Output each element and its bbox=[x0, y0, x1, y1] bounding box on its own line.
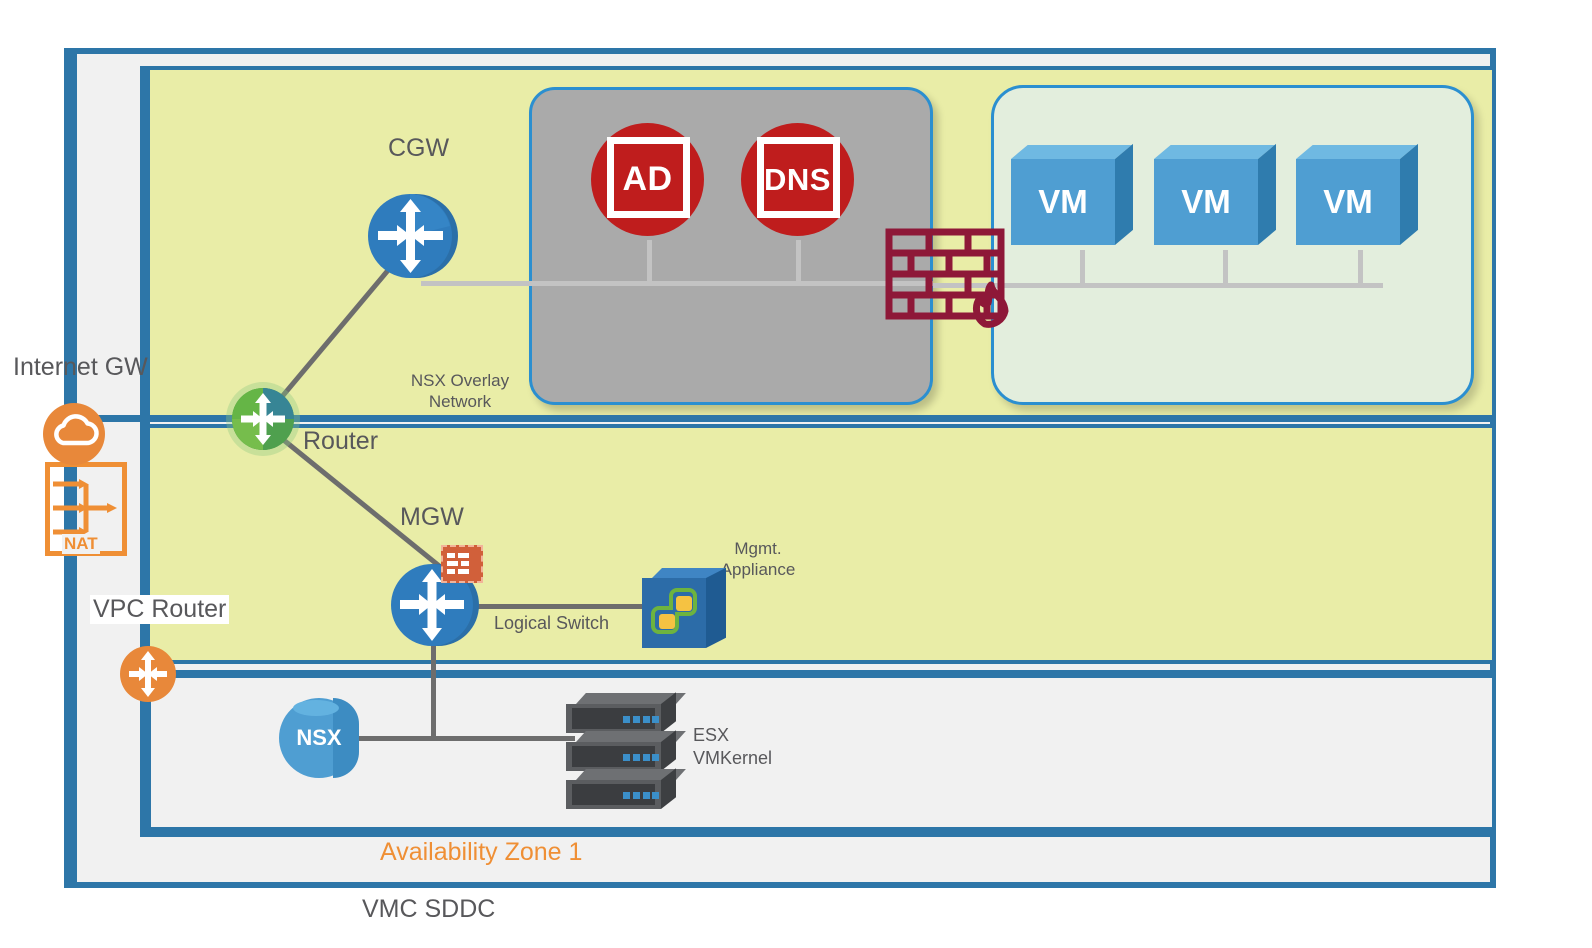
router-east-line bbox=[262, 415, 1496, 422]
nsx-to-esx-line bbox=[357, 736, 575, 741]
server-led bbox=[643, 792, 650, 799]
server-led bbox=[652, 792, 659, 799]
vm-label-2: VM bbox=[1154, 159, 1258, 245]
vm-cube-top bbox=[1154, 145, 1275, 159]
internet-gw-label: Internet GW bbox=[13, 353, 148, 382]
dns-drop-line bbox=[796, 240, 801, 283]
cgw-router-icon[interactable] bbox=[366, 190, 458, 282]
mgw-to-switch-line bbox=[455, 604, 651, 609]
firewall-icon[interactable] bbox=[885, 228, 1015, 328]
router-icon[interactable] bbox=[232, 388, 294, 450]
server-led bbox=[643, 716, 650, 723]
vm-cube-top bbox=[1011, 145, 1132, 159]
esx-server-2[interactable] bbox=[566, 731, 676, 771]
server-led bbox=[643, 754, 650, 761]
appliance-glyph-icon bbox=[648, 584, 702, 642]
server-led bbox=[623, 716, 630, 723]
logical-switch-label: Logical Switch bbox=[494, 612, 609, 635]
vpc-router-down-line bbox=[144, 700, 151, 834]
ad-label: AD bbox=[591, 123, 704, 236]
vm-node-3[interactable]: VM bbox=[1296, 145, 1418, 245]
dns-label: DNS bbox=[741, 123, 854, 236]
nsx-label: NSX bbox=[279, 698, 359, 778]
server-led bbox=[623, 792, 630, 799]
nat-label: NAT bbox=[62, 534, 100, 554]
vm-node-1[interactable]: VM bbox=[1011, 145, 1133, 245]
vpc-router-label: VPC Router bbox=[90, 595, 229, 624]
esx-server-3[interactable] bbox=[566, 769, 676, 809]
vm-drop-line-2 bbox=[1223, 250, 1228, 285]
overlay-bus-line bbox=[421, 281, 933, 286]
server-led bbox=[633, 754, 640, 761]
server-led bbox=[633, 792, 640, 799]
nsx-overlay-box bbox=[529, 87, 933, 405]
esx-label-line2: VMKernel bbox=[693, 747, 803, 770]
vm-segment-box bbox=[991, 85, 1474, 405]
cgw-label: CGW bbox=[388, 134, 449, 163]
availability-zone-label: Availability Zone 1 bbox=[380, 838, 582, 867]
mgw-firewall-badge-icon bbox=[441, 545, 483, 583]
server-led bbox=[633, 716, 640, 723]
vpc-router-bottom-line bbox=[144, 827, 1496, 834]
ad-node[interactable]: AD bbox=[591, 123, 704, 236]
nsx-overlay-label-line1: NSX Overlay bbox=[405, 370, 515, 391]
vm-cube-top bbox=[1296, 145, 1417, 159]
mgmt-appliance-icon[interactable] bbox=[642, 568, 726, 648]
server-led bbox=[623, 754, 630, 761]
cloud-icon bbox=[43, 403, 105, 465]
mgw-down-line bbox=[431, 636, 436, 738]
mgmt-appliance-line1: Mgmt. bbox=[703, 538, 813, 559]
vmc-sddc-label: VMC SDDC bbox=[362, 895, 495, 924]
ad-drop-line bbox=[647, 240, 652, 283]
nsx-node[interactable]: NSX bbox=[279, 698, 359, 778]
esx-vmkernel-label: ESX VMKernel bbox=[693, 724, 803, 769]
diagram-canvas: Internet GW NAT VPC Router bbox=[0, 0, 1592, 948]
nsx-overlay-label-line2: Network bbox=[405, 391, 515, 412]
dns-node[interactable]: DNS bbox=[741, 123, 854, 236]
server-led bbox=[652, 754, 659, 761]
appliance-side bbox=[706, 568, 726, 648]
vm-cube-side bbox=[1115, 144, 1133, 245]
vm-drop-line-3 bbox=[1358, 250, 1363, 285]
vm-cube-side bbox=[1400, 144, 1418, 245]
router-label: Router bbox=[303, 427, 378, 456]
mgw-label: MGW bbox=[400, 503, 464, 532]
vm-label-1: VM bbox=[1011, 159, 1115, 245]
vm-label-3: VM bbox=[1296, 159, 1400, 245]
vpc-router-icon[interactable] bbox=[120, 646, 176, 702]
server-led bbox=[652, 716, 659, 723]
vpc-router-east-line bbox=[147, 670, 1496, 677]
vm-cube-side bbox=[1258, 144, 1276, 245]
vm-node-2[interactable]: VM bbox=[1154, 145, 1276, 245]
esx-server-1[interactable] bbox=[566, 693, 676, 733]
nsx-overlay-label: NSX Overlay Network bbox=[405, 370, 515, 413]
vm-drop-line-1 bbox=[1080, 250, 1085, 285]
esx-label-line1: ESX bbox=[693, 724, 803, 747]
